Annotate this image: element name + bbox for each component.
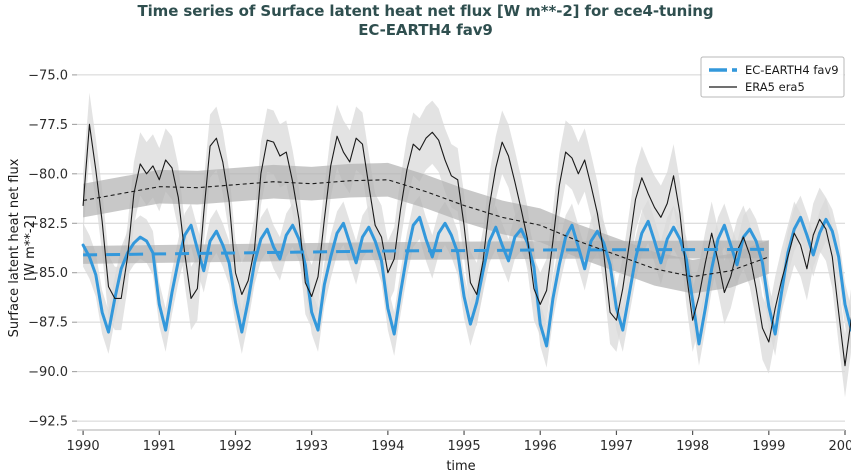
- x-axis-title: time: [446, 459, 475, 474]
- xtick-label: 1994: [371, 439, 404, 454]
- ytick-label: −77.5: [28, 118, 68, 133]
- y-axis-title: Surface latent heat net flux: [7, 158, 22, 337]
- ytick-label: −92.5: [28, 415, 68, 430]
- xtick-label: 1990: [67, 439, 100, 454]
- xtick-label: 1998: [676, 439, 709, 454]
- xtick-label: 1996: [524, 439, 557, 454]
- ytick-label: −87.5: [28, 316, 68, 331]
- xtick-label: 1995: [448, 439, 481, 454]
- chart-legend[interactable]: EC-EARTH4 fav9ERA5 era5: [701, 57, 844, 97]
- legend-label: ERA5 era5: [745, 80, 805, 94]
- xtick-label: 1997: [600, 439, 633, 454]
- ytick-label: −90.0: [28, 365, 68, 380]
- xtick-label: 1993: [295, 439, 328, 454]
- xtick-label: 2000: [828, 439, 851, 454]
- xtick-label: 1991: [143, 439, 176, 454]
- xtick-label: 1999: [752, 439, 785, 454]
- ytick-label: −80.0: [28, 167, 68, 182]
- y-axis-title: [W m**-2]: [23, 215, 38, 281]
- chart-figure: Time series of Surface latent heat net f…: [0, 0, 851, 474]
- xtick-label: 1992: [219, 439, 252, 454]
- legend-label: EC-EARTH4 fav9: [745, 63, 839, 77]
- chart-plot-area: −75.0−77.5−80.0−82.5−85.0−87.5−90.0−92.5…: [0, 0, 851, 474]
- ytick-label: −75.0: [28, 68, 68, 83]
